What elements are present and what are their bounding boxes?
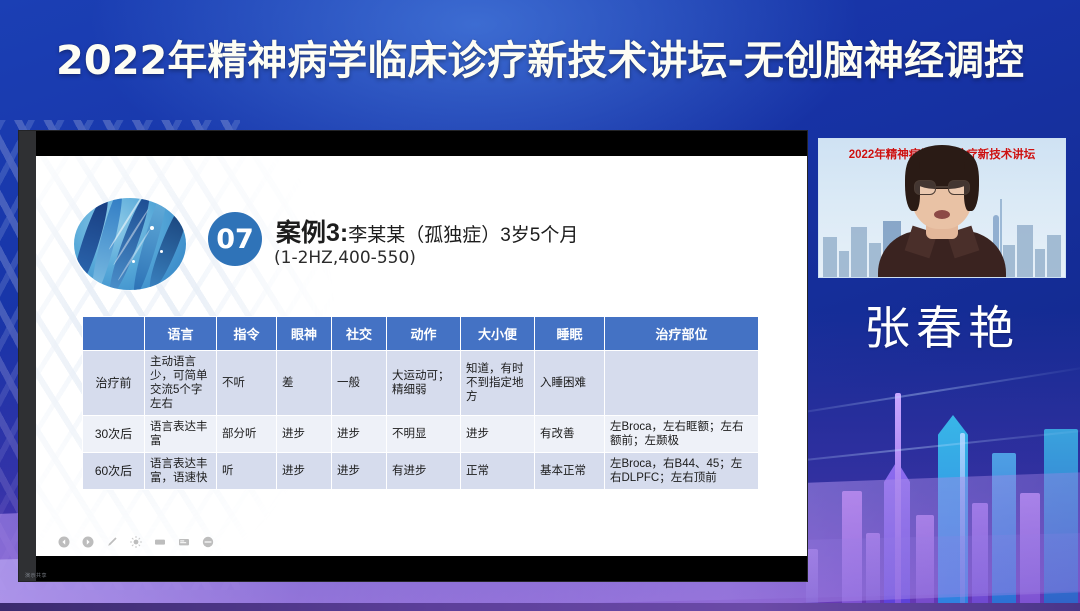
col-header-language: 语言 (145, 317, 217, 351)
row-label: 60次后 (83, 453, 145, 490)
slide-letterbox: 07 案例3:李某某（孤独症）3岁5个月 (1-2HZ,400-550) (36, 131, 807, 581)
next-slide-icon[interactable] (82, 536, 94, 548)
row-label: 治疗前 (83, 351, 145, 416)
slide-toolbar[interactable] (58, 536, 214, 548)
previous-slide-icon[interactable] (58, 536, 70, 548)
cell-treatment-site: 左Broca，左右眶额；左右额前；左颞极 (605, 416, 759, 453)
cell-eyecontact: 进步 (277, 416, 332, 453)
col-header-sleep: 睡眠 (535, 317, 605, 351)
presenter-name: 张春艳 (818, 292, 1066, 358)
cell-language: 语言表达丰富 (145, 416, 217, 453)
cell-toilet: 进步 (461, 416, 535, 453)
col-header-eyecontact: 眼神 (277, 317, 332, 351)
dna-helix-icon (74, 198, 186, 290)
cell-command: 不听 (217, 351, 277, 416)
case-heading-detail: 李某某（孤独症）3岁5个月 (348, 225, 578, 246)
cell-motor: 大运动可；精细弱 (387, 351, 461, 416)
share-watermark: 演示共享 (25, 572, 47, 579)
cell-motor: 不明显 (387, 416, 461, 453)
cell-sleep: 基本正常 (535, 453, 605, 490)
table-row: 治疗前 主动语言少，可简单交流5个字左右 不听 差 一般 大运动可；精细弱 知道… (83, 351, 759, 416)
cell-command: 听 (217, 453, 277, 490)
cell-language: 主动语言少，可简单交流5个字左右 (145, 351, 217, 416)
cell-social: 进步 (332, 453, 387, 490)
table-row: 60次后 语言表达丰富，语速快 听 进步 进步 有进步 正常 基本正常 左Bro… (83, 453, 759, 490)
col-header-motor: 动作 (387, 317, 461, 351)
cell-sleep: 有改善 (535, 416, 605, 453)
case-heading-params: (1-2HZ,400-550) (274, 248, 416, 268)
cell-language: 语言表达丰富，语速快 (145, 453, 217, 490)
table-row: 30次后 语言表达丰富 部分听 进步 进步 不明显 进步 有改善 左Broca，… (83, 416, 759, 453)
cell-toilet: 正常 (461, 453, 535, 490)
cell-social: 一般 (332, 351, 387, 416)
cell-treatment-site: 左Broca，右B44、45；左右DLPFC；左右顶前 (605, 453, 759, 490)
col-header-social: 社交 (332, 317, 387, 351)
table-header-row: 语言 指令 眼神 社交 动作 大小便 睡眠 治疗部位 (83, 317, 759, 351)
cell-eyecontact: 进步 (277, 453, 332, 490)
slide-heading: 07 案例3:李某某（孤独症）3岁5个月 (1-2HZ,400-550) (36, 156, 807, 286)
cell-motor: 有进步 (387, 453, 461, 490)
cell-toilet: 知道，有时不到指定地方 (461, 351, 535, 416)
col-header-treatment-site: 治疗部位 (605, 317, 759, 351)
screen-share-window[interactable]: 07 案例3:李某某（孤独症）3岁5个月 (1-2HZ,400-550) (18, 130, 808, 582)
cell-sleep: 入睡困难 (535, 351, 605, 416)
header-banner: 2022年精神病学临床诊疗新技术讲坛-无创脑神经调控 (0, 0, 1080, 122)
col-header-command: 指令 (217, 317, 277, 351)
more-options-icon[interactable] (202, 536, 214, 548)
row-label: 30次后 (83, 416, 145, 453)
display-icon[interactable] (154, 536, 166, 548)
slide-content: 07 案例3:李某某（孤独症）3岁5个月 (1-2HZ,400-550) (36, 156, 807, 556)
pen-icon[interactable] (106, 536, 118, 548)
cell-treatment-site (605, 351, 759, 416)
case-heading: 案例3:李某某（孤独症）3岁5个月 (276, 213, 578, 249)
case-heading-prefix: 案例3: (276, 219, 348, 247)
cell-social: 进步 (332, 416, 387, 453)
notes-icon[interactable] (178, 536, 190, 548)
laser-pointer-icon[interactable] (130, 536, 142, 548)
presenter-video-tile[interactable]: 2022年精神病学临床诊疗新技术讲坛 无创脑神经调控 2022年6月2 0 (818, 138, 1066, 278)
presentation-screen: 2022年精神病学临床诊疗新技术讲坛-无创脑神经调控 (0, 0, 1080, 611)
col-header-toilet: 大小便 (461, 317, 535, 351)
cell-eyecontact: 差 (277, 351, 332, 416)
page-title: 2022年精神病学临床诊疗新技术讲坛-无创脑神经调控 (56, 41, 1024, 81)
cell-command: 部分听 (217, 416, 277, 453)
col-header-blank (83, 317, 145, 351)
bottom-edge-strip (0, 603, 1080, 611)
section-number-badge: 07 (208, 212, 262, 266)
glasses-icon (914, 180, 970, 195)
case-comparison-table: 语言 指令 眼神 社交 动作 大小便 睡眠 治疗部位 治疗前 (82, 316, 759, 490)
